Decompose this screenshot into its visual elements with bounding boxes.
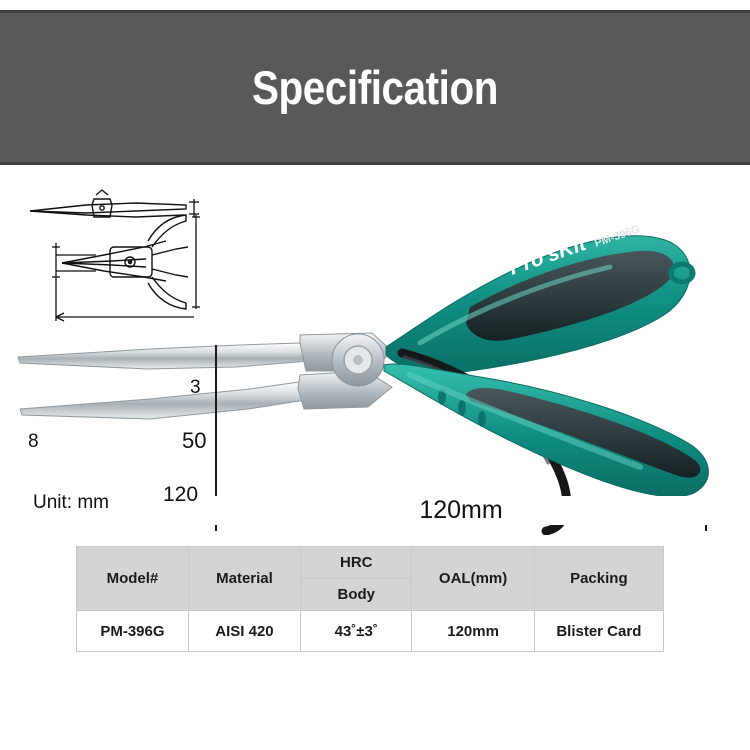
cell-oal: 120mm bbox=[412, 611, 534, 652]
unit-label: Unit: mm bbox=[33, 492, 109, 514]
thickness-dimension bbox=[189, 199, 199, 217]
header-material: Material bbox=[188, 547, 300, 611]
header-packing: Packing bbox=[534, 547, 663, 611]
technical-line-drawings bbox=[26, 185, 211, 335]
cell-model: PM-396G bbox=[77, 611, 189, 652]
cell-hrc: 43˚±3˚ bbox=[301, 611, 412, 652]
overall-dimension-label: 120mm bbox=[413, 496, 508, 524]
header-hrc-body: Body bbox=[301, 579, 412, 611]
overall-dimension-line: 120mm bbox=[215, 513, 707, 515]
dimension-extension-line-left bbox=[215, 345, 217, 515]
header-model: Model# bbox=[77, 547, 189, 611]
cell-material: AISI 420 bbox=[188, 611, 300, 652]
table-header-row-1: Model# Material HRC OAL(mm) Packing bbox=[77, 547, 664, 579]
dimension-label-nose-width: 8 bbox=[28, 431, 39, 453]
cell-packing: Blister Card bbox=[534, 611, 663, 652]
plan-view-drawing bbox=[62, 215, 188, 309]
banner-bottom-edge bbox=[0, 162, 750, 165]
specification-table: Model# Material HRC OAL(mm) Packing Body… bbox=[76, 546, 664, 652]
specification-banner: Specification bbox=[0, 10, 750, 165]
header-hrc: HRC bbox=[301, 547, 412, 579]
dimension-label-head-span: 50 bbox=[182, 428, 206, 454]
table-row: PM-396G AISI 420 43˚±3˚ 120mm Blister Ca… bbox=[77, 611, 664, 652]
overall-dimension-label-wrap: 120mm bbox=[215, 496, 707, 525]
overall-length-dimension bbox=[56, 281, 194, 321]
dimension-label-thickness: 3 bbox=[190, 377, 201, 399]
header-oal: OAL(mm) bbox=[412, 547, 534, 611]
page-title: Specification bbox=[53, 10, 698, 165]
dimension-label-overall: 120 bbox=[163, 483, 198, 507]
side-view-drawing bbox=[30, 190, 186, 217]
head-span-dimension bbox=[192, 215, 200, 309]
